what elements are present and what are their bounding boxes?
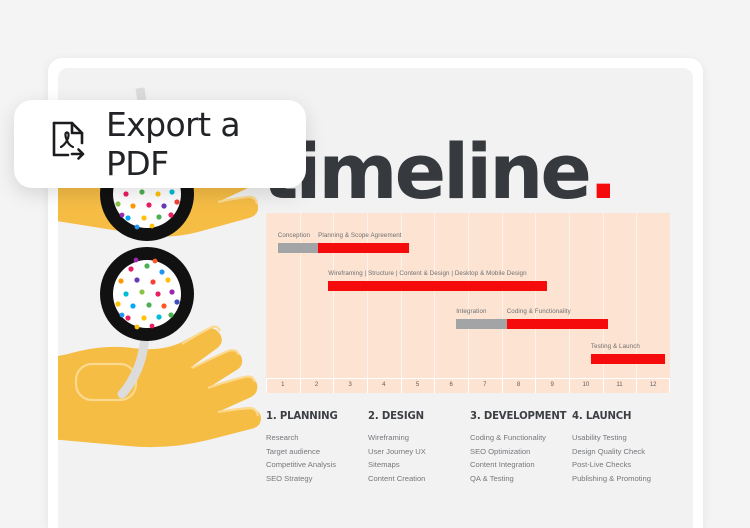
axis-tick-label: 6 — [441, 382, 461, 388]
export-pdf-button[interactable]: Export a PDF — [14, 100, 306, 188]
axis-tick — [266, 379, 267, 393]
phase-item: Content Integration — [470, 458, 572, 472]
gantt-bar[interactable] — [456, 319, 507, 329]
axis-tick — [669, 379, 670, 393]
phase-item: Research — [266, 431, 368, 445]
phase-item: Competitive Analysis — [266, 458, 368, 472]
gantt-gridline — [434, 213, 435, 378]
phase-heading: 2. DESIGN — [368, 409, 462, 422]
axis-tick — [603, 379, 604, 393]
axis-tick — [401, 379, 402, 393]
axis-tick — [468, 379, 469, 393]
axis-tick-label: 3 — [340, 382, 360, 388]
gantt-bar[interactable] — [278, 243, 318, 253]
phase-item: QA & Testing — [470, 472, 572, 486]
phase-columns: 1. PLANNINGResearchTarget audienceCompet… — [266, 409, 676, 485]
phase-heading: 3. DEVELOPMENT — [470, 409, 564, 422]
page-title-dot: . — [589, 127, 615, 216]
gantt-gridline — [569, 213, 570, 378]
pdf-export-icon — [50, 120, 88, 169]
gantt-bar[interactable] — [591, 354, 665, 364]
page-title: timeline. — [262, 134, 615, 210]
gantt-gridline — [468, 213, 469, 378]
axis-tick — [502, 379, 503, 393]
gantt-task-label: Planning & Scope Agreement — [318, 232, 401, 239]
gantt-chart-panel: ConceptionPlanning & Scope AgreementWire… — [266, 213, 670, 378]
axis-tick — [434, 379, 435, 393]
phase-item: SEO Optimization — [470, 445, 572, 459]
phase-item: Design Quality Check — [572, 445, 674, 459]
axis-tick — [569, 379, 570, 393]
phase-item: Publishing & Promoting — [572, 472, 674, 486]
phase-item: Sitemaps — [368, 458, 470, 472]
axis-tick-label: 2 — [307, 382, 327, 388]
phase-heading: 4. LAUNCH — [572, 409, 666, 422]
axis-tick-label: 5 — [408, 382, 428, 388]
axis-tick — [300, 379, 301, 393]
axis-tick-label: 7 — [475, 382, 495, 388]
gantt-axis: 123456789101112 — [266, 378, 670, 393]
axis-tick — [333, 379, 334, 393]
phase-item: SEO Strategy — [266, 472, 368, 486]
gantt-task-label: Conception — [278, 232, 310, 239]
axis-tick-label: 1 — [273, 382, 293, 388]
gantt-task-label: Coding & Functionality — [507, 308, 571, 315]
phase-item: Post-Live Checks — [572, 458, 674, 472]
phase-item: Wireframing — [368, 431, 470, 445]
axis-tick — [535, 379, 536, 393]
page-title-text: timeline — [262, 127, 589, 216]
axis-tick-label: 4 — [374, 382, 394, 388]
axis-tick-label: 9 — [542, 382, 562, 388]
axis-tick-label: 8 — [509, 382, 529, 388]
axis-tick-label: 11 — [610, 382, 630, 388]
phase-column-3: 3. DEVELOPMENTCoding & FunctionalitySEO … — [470, 409, 572, 485]
phase-item: Usability Testing — [572, 431, 674, 445]
lower-lens — [100, 247, 194, 341]
gantt-bar[interactable] — [318, 243, 409, 253]
phase-item: Content Creation — [368, 472, 470, 486]
phase-item: Target audience — [266, 445, 368, 459]
phase-column-2: 2. DESIGNWireframingUser Journey UXSitem… — [368, 409, 470, 485]
phase-item: User Journey UX — [368, 445, 470, 459]
export-pdf-label: Export a PDF — [106, 105, 306, 183]
gantt-task-label: Integration — [456, 308, 486, 315]
lower-hand-shape — [58, 327, 261, 448]
axis-tick — [636, 379, 637, 393]
phase-column-4: 4. LAUNCHUsability TestingDesign Quality… — [572, 409, 674, 485]
gantt-task-label: Testing & Launch — [591, 343, 640, 350]
axis-tick-label: 10 — [576, 382, 596, 388]
phase-item: Coding & Functionality — [470, 431, 572, 445]
gantt-gridline — [502, 213, 503, 378]
gantt-bar[interactable] — [507, 319, 608, 329]
phase-heading: 1. PLANNING — [266, 409, 360, 422]
gantt-bar[interactable] — [328, 281, 547, 291]
gantt-task-label: Wireframing | Structure | Content & Desi… — [328, 270, 526, 277]
gantt-gridline — [535, 213, 536, 378]
axis-tick-label: 12 — [643, 382, 663, 388]
phase-column-1: 1. PLANNINGResearchTarget audienceCompet… — [266, 409, 368, 485]
axis-tick — [367, 379, 368, 393]
